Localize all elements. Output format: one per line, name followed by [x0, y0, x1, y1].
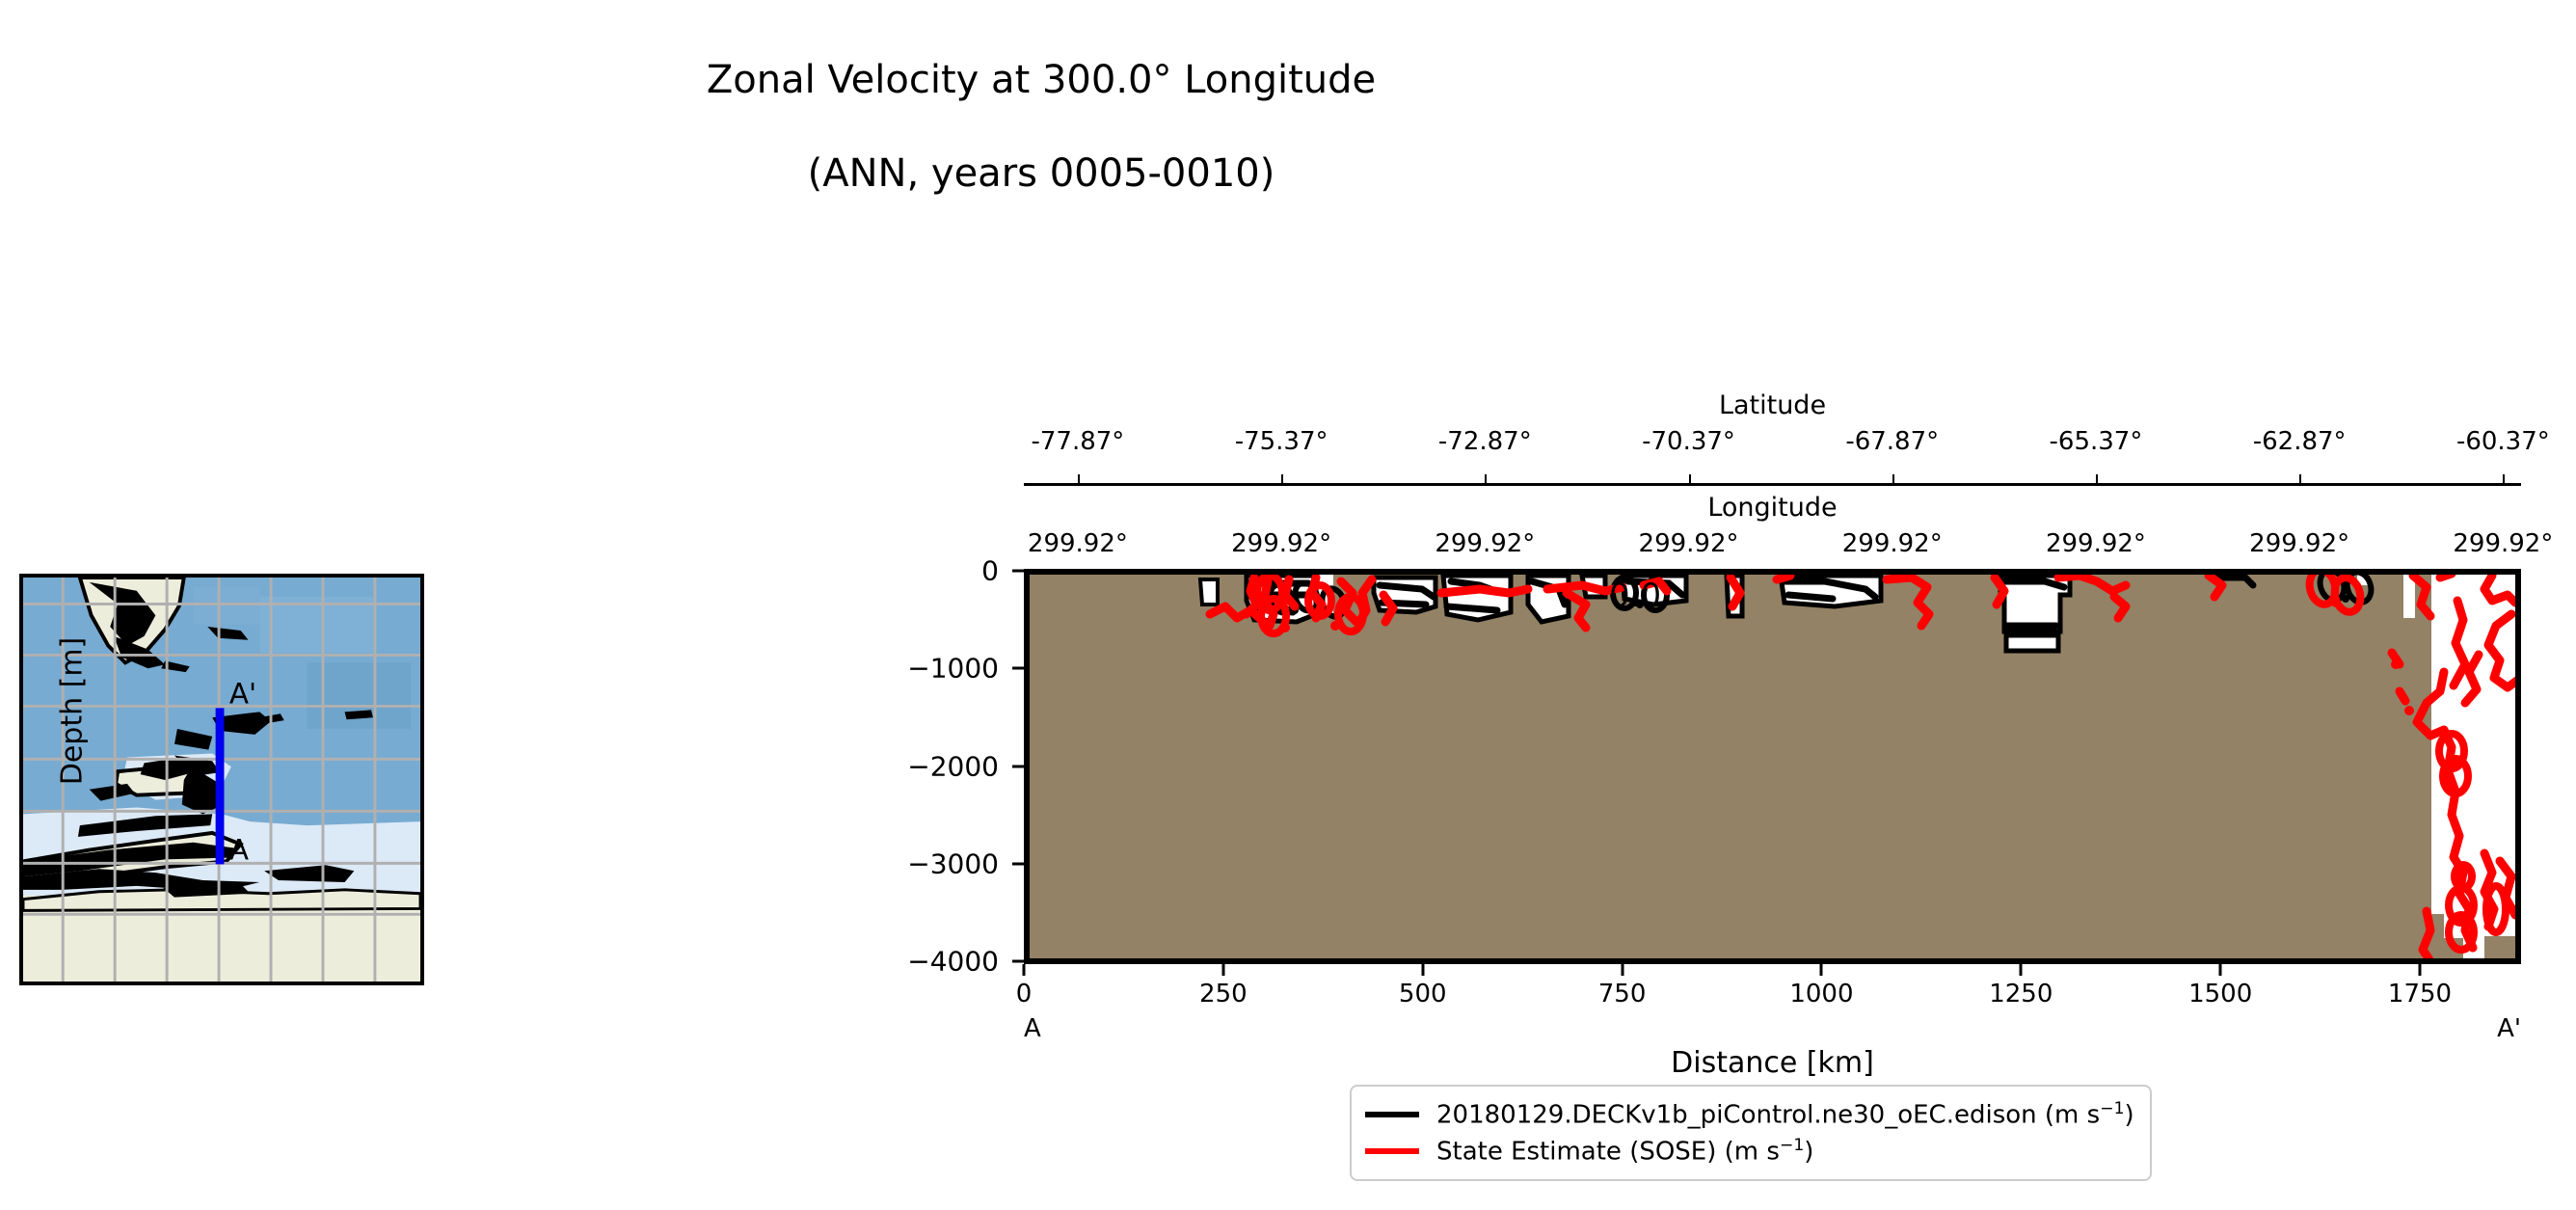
- legend-entry-model[interactable]: 20180129.DECKv1b_piControl.ne30_oEC.edis…: [1365, 1096, 2134, 1133]
- depth-tick-mark: [1012, 765, 1024, 767]
- legend-label-model-tail: ): [2124, 1101, 2133, 1130]
- distance-tick-mark: [1621, 964, 1623, 976]
- depth-tick-label: 0: [981, 555, 999, 587]
- legend-label-sose-sup: −1: [1780, 1136, 1804, 1155]
- distance-tick-mark: [2219, 964, 2222, 976]
- latitude-tick-label: -65.37°: [2050, 427, 2143, 456]
- depth-tick-label: −2000: [907, 750, 999, 782]
- bathymetry-notch: [2415, 572, 2431, 913]
- depth-tick-mark: [1012, 862, 1024, 865]
- legend: 20180129.DECKv1b_piControl.ne30_oEC.edis…: [1350, 1085, 2152, 1181]
- map-ocean-shade: [194, 587, 260, 625]
- latitude-tick-label: -72.87°: [1438, 427, 1532, 456]
- depth-tick-mark: [1012, 570, 1024, 573]
- longitude-axis-title: Longitude: [1024, 493, 2521, 523]
- latitude-spine-tick: [1078, 474, 1080, 484]
- longitude-tick-label: 299.92°: [1231, 529, 1331, 558]
- longitude-tick-label: 299.92°: [1639, 529, 1739, 558]
- legend-swatch-model: [1365, 1112, 1419, 1117]
- distance-tick-label: 500: [1399, 980, 1447, 1008]
- longitude-tick-label: 299.92°: [2453, 529, 2553, 558]
- distance-tick-label: 1750: [2388, 980, 2452, 1008]
- longitude-tick-labels: 299.92° 299.92° 299.92° 299.92° 299.92° …: [1024, 529, 2521, 558]
- latitude-tick-label: -67.87°: [1845, 427, 1939, 456]
- cross-section-graphic: 0.0: [1027, 572, 2518, 961]
- latitude-tick-label: -77.87°: [1031, 427, 1124, 456]
- latitude-spine-tick: [1281, 474, 1283, 484]
- latitude-tick-label: -70.37°: [1642, 427, 1735, 456]
- distance-tick-label: 0: [1016, 980, 1033, 1008]
- legend-label-model-main: 20180129.DECKv1b_piControl.ne30_oEC.edis…: [1436, 1101, 2100, 1130]
- latitude-tick-labels: -77.87° -75.37° -72.87° -70.37° -67.87° …: [1024, 427, 2521, 456]
- latitude-spine-tick: [2299, 474, 2301, 484]
- latitude-tick-label: -62.87°: [2253, 427, 2347, 456]
- latitude-tick-label: -75.37°: [1235, 427, 1328, 456]
- bathymetry-fill: [1027, 572, 2444, 961]
- distance-tick-label: 750: [1598, 980, 1647, 1008]
- title-line-1: Zonal Velocity at 300.0° Longitude: [0, 57, 2082, 104]
- legend-label-sose: State Estimate (SOSE) (m s−1): [1436, 1136, 1813, 1167]
- endpoint-label-end: A': [2497, 1014, 2521, 1043]
- distance-tick-marks: [1024, 964, 2521, 978]
- latitude-tick-label: -60.37°: [2456, 427, 2550, 456]
- depth-tick-label: −3000: [907, 847, 999, 879]
- distance-tick-label: 1500: [2188, 980, 2252, 1008]
- distance-tick-label: 1000: [1789, 980, 1853, 1008]
- legend-label-model-sup: −1: [2100, 1099, 2124, 1118]
- contour-label-text: 0.0: [1609, 577, 1661, 615]
- depth-tick-mark: [1012, 667, 1024, 670]
- transect-start-label: A: [229, 833, 249, 866]
- distance-tick-labels: 0 250 500 750 1000 1250 1500 1750: [1024, 980, 2521, 1014]
- distance-tick-mark: [2020, 964, 2023, 976]
- latitude-spine-tick: [1485, 474, 1487, 484]
- longitude-tick-label: 299.92°: [2046, 529, 2146, 558]
- depth-tick-label: −4000: [907, 946, 999, 978]
- legend-label-sose-tail: ): [1804, 1138, 1813, 1167]
- legend-swatch-sose: [1365, 1148, 1419, 1154]
- page-title: Zonal Velocity at 300.0° Longitude (ANN,…: [0, 10, 2082, 245]
- legend-entry-sose[interactable]: State Estimate (SOSE) (m s−1): [1365, 1133, 2134, 1170]
- latitude-axis-title: Latitude: [1024, 390, 2521, 420]
- latitude-axis-spine: [1024, 474, 2521, 486]
- distance-axis-title: Distance [km]: [1024, 1046, 2521, 1080]
- legend-label-sose-main: State Estimate (SOSE) (m s: [1436, 1138, 1780, 1167]
- latitude-spine-line: [1024, 483, 2521, 486]
- distance-tick-mark: [2419, 964, 2422, 976]
- endpoint-labels: A A': [1024, 1014, 2521, 1047]
- title-line-2: (ANN, years 0005-0010): [0, 150, 2082, 198]
- depth-tick-label: −1000: [907, 653, 999, 685]
- latitude-spine-tick: [1689, 474, 1691, 484]
- distance-tick-mark: [1023, 964, 1026, 976]
- legend-label-model: 20180129.DECKv1b_piControl.ne30_oEC.edis…: [1436, 1099, 2134, 1130]
- depth-tick-labels: 0 −1000 −2000 −3000 −4000: [868, 569, 1012, 964]
- longitude-tick-label: 299.92°: [1842, 529, 1943, 558]
- longitude-tick-label: 299.92°: [1028, 529, 1128, 558]
- distance-tick-label: 250: [1199, 980, 1248, 1008]
- latitude-spine-tick: [2503, 474, 2505, 484]
- longitude-tick-label: 299.92°: [2249, 529, 2349, 558]
- distance-tick-label: 1250: [1989, 980, 2053, 1008]
- transect-end-label: A': [229, 678, 256, 711]
- latitude-spine-tick: [2096, 474, 2098, 484]
- endpoint-label-start: A: [1024, 1014, 1041, 1043]
- cross-section-plot: 0.0: [1024, 569, 2521, 964]
- longitude-tick-label: 299.92°: [1435, 529, 1535, 558]
- distance-tick-mark: [1421, 964, 1424, 976]
- depth-tick-mark: [1012, 960, 1024, 963]
- latitude-spine-tick: [1892, 474, 1894, 484]
- distance-tick-mark: [1820, 964, 1823, 976]
- distance-tick-mark: [1221, 964, 1224, 976]
- depth-axis-title: Depth [m]: [56, 586, 90, 837]
